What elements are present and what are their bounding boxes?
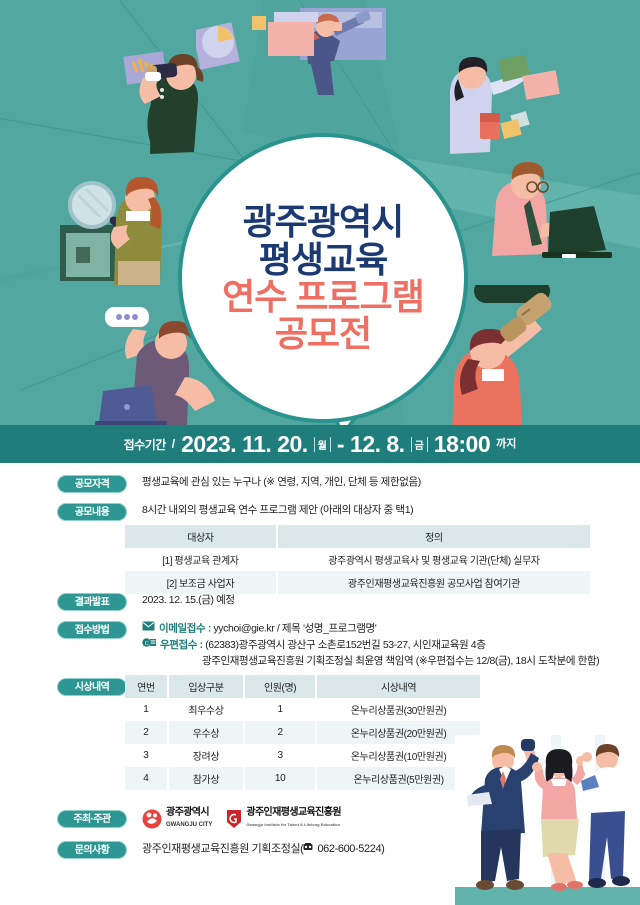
award-r2c1: 장려상 bbox=[168, 744, 244, 767]
target-header-1: 정의 bbox=[277, 525, 590, 548]
awards-table: 연번 입상구분 인원(명) 시상내역 1 최우수상 1 온누리상품권(30만원권… bbox=[125, 675, 480, 790]
target-table: 대상자 정의 [1] 평생교육 관계자 광주광역시 평생교육사 및 평생교육 기… bbox=[125, 525, 590, 594]
submission-label: 접수방법 bbox=[57, 621, 127, 639]
content-text: 8시간 내외의 평생교육 연수 프로그램 제안 (아래의 대상자 중 택1) bbox=[142, 503, 413, 519]
award-r1c0: 2 bbox=[125, 721, 168, 744]
post-value-line2: 광주인재평생교육진흥원 기획조정실 최윤영 책임역 (※우편접수는 12/8(금… bbox=[202, 654, 599, 670]
section-submission: 접수방법 이메일접수 : yychoi@gie.kr / 제목 '성명_프로그램… bbox=[57, 621, 599, 670]
table-header-row: 연번 입상구분 인원(명) 시상내역 bbox=[125, 675, 480, 698]
award-r0c0: 1 bbox=[125, 698, 168, 721]
envelope-icon bbox=[142, 621, 155, 637]
table-row: 2 우수상 2 온누리상품권(20만원권) bbox=[125, 721, 480, 744]
award-r3c2: 10 bbox=[244, 767, 316, 790]
period-slash: / bbox=[172, 437, 175, 451]
awards-label: 시상내역 bbox=[57, 678, 127, 696]
poster-root: 광주광역시 평생교육 연수 프로그램 공모전 접수기간 / 2023. 11. … bbox=[0, 0, 640, 905]
inquiry-text-after: ) bbox=[381, 843, 384, 855]
table-row: [2] 보조금 사업자 광주인재평생교육진흥원 공모사업 참여기관 bbox=[125, 571, 590, 594]
result-text: 2023. 12. 15.(금) 예정 bbox=[142, 593, 235, 609]
award-r3c0: 4 bbox=[125, 767, 168, 790]
hosts-label: 주최·주관 bbox=[57, 810, 127, 828]
award-r2c0: 3 bbox=[125, 744, 168, 767]
eligibility-text: 평생교육에 관심 있는 누구나 (※ 연령, 지역, 개인, 단체 등 제한없음… bbox=[142, 475, 421, 491]
laptop-man-illustration bbox=[490, 160, 620, 270]
title-line-1: 광주광역시 bbox=[243, 203, 404, 240]
table-row: [1] 평생교육 관계자 광주광역시 평생교육사 및 평생교육 기관(단체) 실… bbox=[125, 548, 590, 571]
award-r2c2: 3 bbox=[244, 744, 316, 767]
email-line: 이메일접수 : yychoi@gie.kr / 제목 '성명_프로그램명' bbox=[142, 621, 599, 637]
eligibility-label: 공모자격 bbox=[57, 475, 127, 493]
celebrating-people-illustration bbox=[455, 735, 640, 905]
period-start-date: 2023. 11. 20. bbox=[181, 431, 308, 458]
award-header-1: 입상구분 bbox=[168, 675, 244, 698]
section-result: 결과발표 2023. 12. 15.(금) 예정 bbox=[57, 593, 235, 611]
email-value: yychoi@gie.kr / 제목 '성명_프로그램명' bbox=[213, 623, 376, 635]
award-r1c2: 2 bbox=[244, 721, 316, 744]
section-awards: 시상내역 bbox=[57, 678, 127, 696]
target-r1c1: 광주인재평생교육진흥원 공모사업 참여기관 bbox=[277, 571, 590, 594]
postal-stamp-icon: C bbox=[142, 637, 156, 654]
award-r0c3: 온누리상품권(30만원권) bbox=[316, 698, 480, 721]
gie-name: 광주인재평생교육진흥원 bbox=[246, 807, 341, 818]
gwangju-city-name-en: GWANGJU CITY bbox=[166, 822, 212, 828]
table-row: 3 장려상 3 온누리상품권(10만원권) bbox=[125, 744, 480, 767]
table-row: 1 최우수상 1 온누리상품권(30만원권) bbox=[125, 698, 480, 721]
award-r0c2: 1 bbox=[244, 698, 316, 721]
gwangju-city-emblem-icon bbox=[142, 809, 162, 829]
title-line-4: 공모전 bbox=[275, 315, 371, 352]
period-dash: - bbox=[337, 431, 344, 458]
content-label: 공모내용 bbox=[57, 503, 127, 521]
title-line-3: 연수 프로그램 bbox=[222, 278, 424, 315]
application-period-band: 접수기간 / 2023. 11. 20. 월 - 12. 8. 금 18:00 … bbox=[0, 425, 640, 463]
title-line-2: 평생교육 bbox=[259, 241, 387, 278]
svg-text:C: C bbox=[145, 641, 149, 647]
chart-decoration bbox=[196, 12, 326, 102]
inquiry-text-before: 광주인재평생교육진흥원 기획조정실( bbox=[142, 843, 303, 855]
period-end-date: 12. 8. bbox=[350, 431, 405, 458]
gie-name-en: Gwangju Institute for Talent & Lifelong … bbox=[246, 822, 340, 827]
period-end-day: 금 bbox=[411, 437, 428, 452]
section-hosts: 주최·주관 광주광역시 GWANGJU CITY bbox=[57, 808, 341, 829]
section-content: 공모내용 8시간 내외의 평생교육 연수 프로그램 제안 (아래의 대상자 중 … bbox=[57, 503, 413, 521]
target-header-0: 대상자 bbox=[125, 525, 277, 548]
magnifier-woman-illustration bbox=[60, 165, 180, 285]
section-inquiry: 문의사항 광주인재평생교육진흥원 기획조정실(062-600-5224) bbox=[57, 841, 384, 859]
post-label: 우편접수 : bbox=[160, 640, 203, 652]
period-time: 18:00 bbox=[434, 431, 490, 458]
post-value: (62383)광주광역시 광산구 소촌로152번길 53-27, 시인재교육원 … bbox=[205, 640, 485, 652]
gie-logo: 광주인재평생교육진흥원 Gwangju Institute for Talent… bbox=[226, 808, 341, 829]
poster-title: 광주광역시 평생교육 연수 프로그램 공모전 bbox=[178, 133, 468, 423]
gie-shield-icon bbox=[226, 809, 242, 829]
result-label: 결과발표 bbox=[57, 593, 127, 611]
section-eligibility: 공모자격 평생교육에 관심 있는 누구나 (※ 연령, 지역, 개인, 단체 등… bbox=[57, 475, 421, 493]
period-label: 접수기간 bbox=[124, 436, 166, 453]
award-r1c1: 우수상 bbox=[168, 721, 244, 744]
table-row: 4 참가상 10 온누리상품권(5만원권) bbox=[125, 767, 480, 790]
award-r0c1: 최우수상 bbox=[168, 698, 244, 721]
target-r1c0: [2] 보조금 사업자 bbox=[125, 571, 277, 594]
telephone-icon bbox=[303, 841, 313, 858]
post-line: C 우편접수 : (62383)광주광역시 광산구 소촌로152번길 53-27… bbox=[142, 637, 599, 654]
award-header-3: 시상내역 bbox=[316, 675, 480, 698]
award-r3c1: 참가상 bbox=[168, 767, 244, 790]
inquiry-label: 문의사항 bbox=[57, 841, 127, 859]
gwangju-city-name: 광주광역시 bbox=[166, 807, 209, 818]
award-header-2: 인원(명) bbox=[244, 675, 316, 698]
target-r0c0: [1] 평생교육 관계자 bbox=[125, 548, 277, 571]
target-r0c1: 광주광역시 평생교육사 및 평생교육 기관(단체) 실무자 bbox=[277, 548, 590, 571]
period-start-day: 월 bbox=[314, 437, 331, 452]
email-label: 이메일접수 : bbox=[159, 623, 211, 635]
award-header-0: 연번 bbox=[125, 675, 168, 698]
period-suffix: 까지 bbox=[496, 435, 516, 451]
table-header-row: 대상자 정의 bbox=[125, 525, 590, 548]
gwangju-city-logo: 광주광역시 GWANGJU CITY bbox=[142, 808, 212, 829]
inquiry-phone: 062-600-5224 bbox=[317, 843, 381, 855]
